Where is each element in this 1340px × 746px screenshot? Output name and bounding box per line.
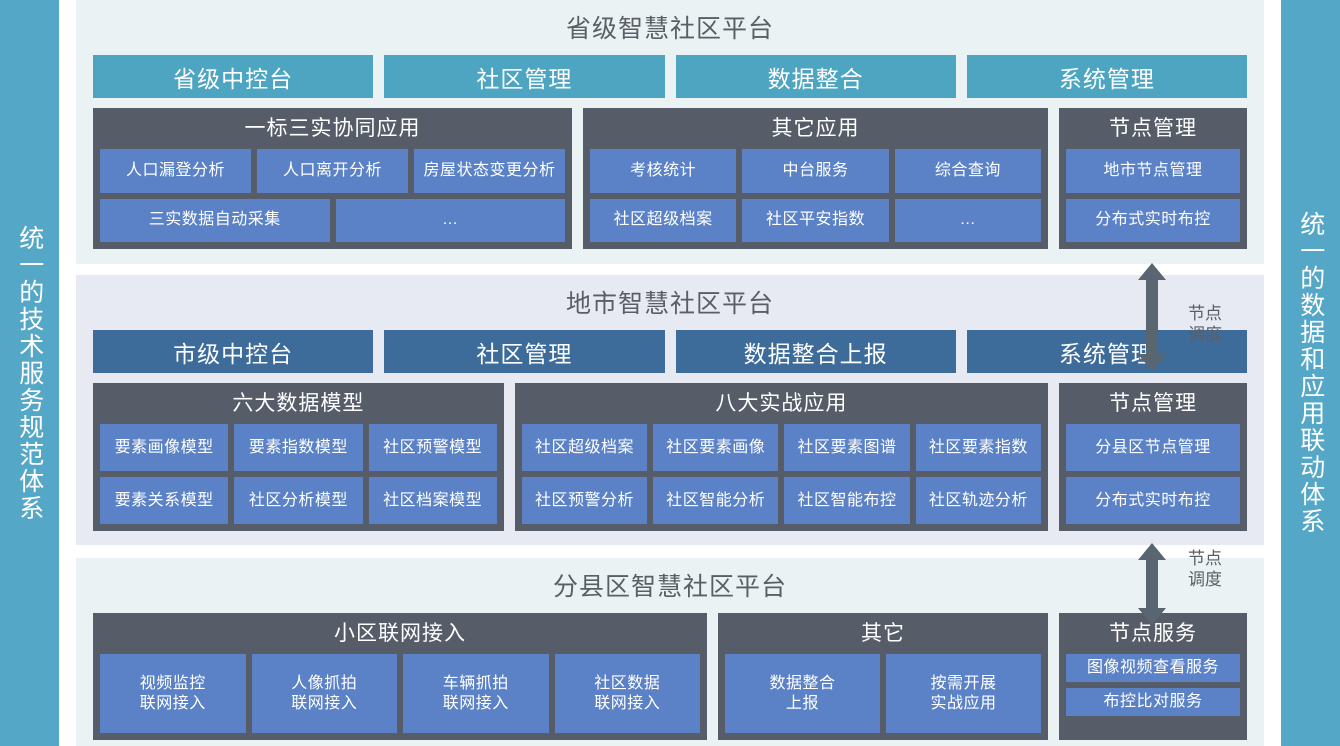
group-city-node-management: 节点管理 分县区节点管理 分布式实时布控 bbox=[1059, 383, 1247, 531]
group-title: 八大实战应用 bbox=[522, 388, 1041, 420]
tile-row: 社区超级档案 社区平安指数 … bbox=[590, 199, 1041, 243]
tile-distributed-realtime-control[interactable]: 分布式实时布控 bbox=[1066, 477, 1240, 524]
tile-row: 布控比对服务 bbox=[1066, 688, 1240, 716]
group-provincial-node-management: 节点管理 地市节点管理 分布式实时布控 bbox=[1059, 108, 1247, 249]
tile-row: 社区超级档案 社区要素画像 社区要素图谱 社区要素指数 bbox=[522, 424, 1041, 471]
tile-row: 考核统计 中台服务 综合查询 bbox=[590, 149, 1041, 193]
group-title: 一标三实协同应用 bbox=[100, 113, 565, 145]
group-city-eight-practical-apps: 八大实战应用 社区超级档案 社区要素画像 社区要素图谱 社区要素指数 社区预警分… bbox=[515, 383, 1048, 531]
left-rail-label: 统一的技术服务规范体系 bbox=[12, 225, 47, 522]
tile-vehicle-capture-network-access[interactable]: 车辆抓拍 联网接入 bbox=[403, 654, 549, 733]
tile-more-ellipsis[interactable]: … bbox=[895, 199, 1041, 243]
tile-grid: 视频监控 联网接入 人像抓拍 联网接入 车辆抓拍 联网接入 社区数据 联网接入 bbox=[100, 654, 700, 733]
group-district-community-network-access: 小区联网接入 视频监控 联网接入 人像抓拍 联网接入 车辆抓拍 联网接入 社区数… bbox=[93, 613, 707, 740]
tile-row: 三实数据自动采集 … bbox=[100, 199, 565, 243]
tile-row: 视频监控 联网接入 人像抓拍 联网接入 车辆抓拍 联网接入 社区数据 联网接入 bbox=[100, 654, 700, 733]
tile-comprehensive-query[interactable]: 综合查询 bbox=[895, 149, 1041, 193]
group-title: 其它应用 bbox=[590, 113, 1041, 145]
tile-sanshi-auto-collection[interactable]: 三实数据自动采集 bbox=[100, 199, 330, 243]
tile-row: 要素画像模型 要素指数模型 社区预警模型 bbox=[100, 424, 497, 471]
tile-row: 数据整合 上报 按需开展 实战应用 bbox=[725, 654, 1041, 733]
tile-community-element-index[interactable]: 社区要素指数 bbox=[916, 424, 1041, 471]
tile-row: 分布式实时布控 bbox=[1066, 477, 1240, 524]
tab-provincial-community-management[interactable]: 社区管理 bbox=[384, 55, 664, 98]
tile-house-status-change-analysis[interactable]: 房屋状态变更分析 bbox=[414, 149, 565, 193]
tile-row: 地市节点管理 bbox=[1066, 149, 1240, 193]
tile-grid: 图像视频查看服务 布控比对服务 bbox=[1066, 654, 1240, 716]
tile-community-archive-model[interactable]: 社区档案模型 bbox=[369, 477, 497, 524]
tab-provincial-data-integration[interactable]: 数据整合 bbox=[676, 55, 956, 98]
tile-community-element-graph[interactable]: 社区要素图谱 bbox=[784, 424, 909, 471]
tile-row: 分布式实时布控 bbox=[1066, 199, 1240, 243]
arrow-city-district-label: 节点 调度 bbox=[1160, 548, 1250, 591]
tile-element-portrait-model[interactable]: 要素画像模型 bbox=[100, 424, 228, 471]
tile-midplatform-service[interactable]: 中台服务 bbox=[742, 149, 888, 193]
tab-city-community-management[interactable]: 社区管理 bbox=[384, 330, 664, 373]
tile-community-data-network-access[interactable]: 社区数据 联网接入 bbox=[555, 654, 701, 733]
tile-on-demand-practical-apps[interactable]: 按需开展 实战应用 bbox=[886, 654, 1041, 733]
group-provincial-yibiaosansshi: 一标三实协同应用 人口漏登分析 人口离开分析 房屋状态变更分析 三实数据自动采集… bbox=[93, 108, 572, 249]
group-city-six-data-models: 六大数据模型 要素画像模型 要素指数模型 社区预警模型 要素关系模型 社区分析模… bbox=[93, 383, 504, 531]
architecture-diagram: 统一的技术服务规范体系 统一的数据和应用联动体系 省级智慧社区平台 省级中控台 … bbox=[0, 0, 1340, 746]
tile-grid: 数据整合 上报 按需开展 实战应用 bbox=[725, 654, 1041, 733]
tile-face-capture-network-access[interactable]: 人像抓拍 联网接入 bbox=[252, 654, 398, 733]
tile-grid: 人口漏登分析 人口离开分析 房屋状态变更分析 三实数据自动采集 … bbox=[100, 149, 565, 242]
group-district-node-service: 节点服务 图像视频查看服务 布控比对服务 bbox=[1059, 613, 1247, 740]
section-provincial: 省级智慧社区平台 省级中控台 社区管理 数据整合 系统管理 一标三实协同应用 人… bbox=[76, 0, 1264, 264]
tile-grid: 地市节点管理 分布式实时布控 bbox=[1066, 149, 1240, 242]
tile-community-super-archive[interactable]: 社区超级档案 bbox=[590, 199, 736, 243]
tile-element-index-model[interactable]: 要素指数模型 bbox=[234, 424, 362, 471]
group-title: 节点管理 bbox=[1066, 388, 1240, 420]
district-group-row: 小区联网接入 视频监控 联网接入 人像抓拍 联网接入 车辆抓拍 联网接入 社区数… bbox=[76, 613, 1264, 740]
tile-grid: 社区超级档案 社区要素画像 社区要素图谱 社区要素指数 社区预警分析 社区智能分… bbox=[522, 424, 1041, 524]
tab-provincial-control-center[interactable]: 省级中控台 bbox=[93, 55, 373, 98]
group-title: 小区联网接入 bbox=[100, 618, 700, 650]
tile-row: 社区预警分析 社区智能分析 社区智能布控 社区轨迹分析 bbox=[522, 477, 1041, 524]
tile-grid: 考核统计 中台服务 综合查询 社区超级档案 社区平安指数 … bbox=[590, 149, 1041, 242]
tile-grid: 要素画像模型 要素指数模型 社区预警模型 要素关系模型 社区分析模型 社区档案模… bbox=[100, 424, 497, 524]
provincial-group-row: 一标三实协同应用 人口漏登分析 人口离开分析 房屋状态变更分析 三实数据自动采集… bbox=[76, 108, 1264, 249]
tab-provincial-system-management[interactable]: 系统管理 bbox=[967, 55, 1247, 98]
section-district: 分县区智慧社区平台 小区联网接入 视频监控 联网接入 人像抓拍 联网接入 车辆抓… bbox=[76, 558, 1264, 746]
tile-distributed-realtime-control[interactable]: 分布式实时布控 bbox=[1066, 199, 1240, 243]
tile-community-super-archive[interactable]: 社区超级档案 bbox=[522, 424, 647, 471]
section-city-title: 地市智慧社区平台 bbox=[76, 275, 1264, 320]
tile-community-trajectory-analysis[interactable]: 社区轨迹分析 bbox=[916, 477, 1041, 524]
tab-city-data-integration-report[interactable]: 数据整合上报 bbox=[676, 330, 956, 373]
tile-control-comparison-service[interactable]: 布控比对服务 bbox=[1066, 688, 1240, 716]
city-group-row: 六大数据模型 要素画像模型 要素指数模型 社区预警模型 要素关系模型 社区分析模… bbox=[76, 383, 1264, 531]
tile-community-warning-analysis[interactable]: 社区预警分析 bbox=[522, 477, 647, 524]
tile-population-missing-registration-analysis[interactable]: 人口漏登分析 bbox=[100, 149, 251, 193]
tile-row: 要素关系模型 社区分析模型 社区档案模型 bbox=[100, 477, 497, 524]
provincial-tab-row: 省级中控台 社区管理 数据整合 系统管理 bbox=[76, 55, 1264, 98]
city-tab-row: 市级中控台 社区管理 数据整合上报 系统管理 bbox=[76, 330, 1264, 373]
tile-community-warning-model[interactable]: 社区预警模型 bbox=[369, 424, 497, 471]
arrow-provincial-city-label: 节点 调度 bbox=[1160, 303, 1250, 346]
tile-assessment-statistics[interactable]: 考核统计 bbox=[590, 149, 736, 193]
tile-community-element-portrait[interactable]: 社区要素画像 bbox=[653, 424, 778, 471]
section-district-title: 分县区智慧社区平台 bbox=[76, 558, 1264, 603]
tile-community-safety-index[interactable]: 社区平安指数 bbox=[742, 199, 888, 243]
tile-grid: 分县区节点管理 分布式实时布控 bbox=[1066, 424, 1240, 524]
tile-row: 图像视频查看服务 bbox=[1066, 654, 1240, 682]
tile-district-node-management[interactable]: 分县区节点管理 bbox=[1066, 424, 1240, 471]
group-title: 六大数据模型 bbox=[100, 388, 497, 420]
tile-community-smart-analysis[interactable]: 社区智能分析 bbox=[653, 477, 778, 524]
tile-population-departure-analysis[interactable]: 人口离开分析 bbox=[257, 149, 408, 193]
tile-video-surveillance-network-access[interactable]: 视频监控 联网接入 bbox=[100, 654, 246, 733]
tile-row: 人口漏登分析 人口离开分析 房屋状态变更分析 bbox=[100, 149, 565, 193]
section-provincial-title: 省级智慧社区平台 bbox=[76, 0, 1264, 45]
tile-image-video-viewing-service[interactable]: 图像视频查看服务 bbox=[1066, 654, 1240, 682]
tile-more-ellipsis[interactable]: … bbox=[336, 199, 566, 243]
right-rail: 统一的数据和应用联动体系 bbox=[1281, 0, 1340, 746]
section-city: 地市智慧社区平台 市级中控台 社区管理 数据整合上报 系统管理 六大数据模型 要… bbox=[76, 275, 1264, 545]
right-rail-label: 统一的数据和应用联动体系 bbox=[1293, 211, 1328, 535]
tab-city-control-center[interactable]: 市级中控台 bbox=[93, 330, 373, 373]
tile-city-node-management[interactable]: 地市节点管理 bbox=[1066, 149, 1240, 193]
group-provincial-other-apps: 其它应用 考核统计 中台服务 综合查询 社区超级档案 社区平安指数 … bbox=[583, 108, 1048, 249]
tile-element-relation-model[interactable]: 要素关系模型 bbox=[100, 477, 228, 524]
group-title: 其它 bbox=[725, 618, 1041, 650]
tile-community-smart-control[interactable]: 社区智能布控 bbox=[784, 477, 909, 524]
tile-community-analysis-model[interactable]: 社区分析模型 bbox=[234, 477, 362, 524]
tile-row: 分县区节点管理 bbox=[1066, 424, 1240, 471]
tile-data-integration-report[interactable]: 数据整合 上报 bbox=[725, 654, 880, 733]
left-rail: 统一的技术服务规范体系 bbox=[0, 0, 59, 746]
group-title: 节点管理 bbox=[1066, 113, 1240, 145]
group-district-other: 其它 数据整合 上报 按需开展 实战应用 bbox=[718, 613, 1048, 740]
